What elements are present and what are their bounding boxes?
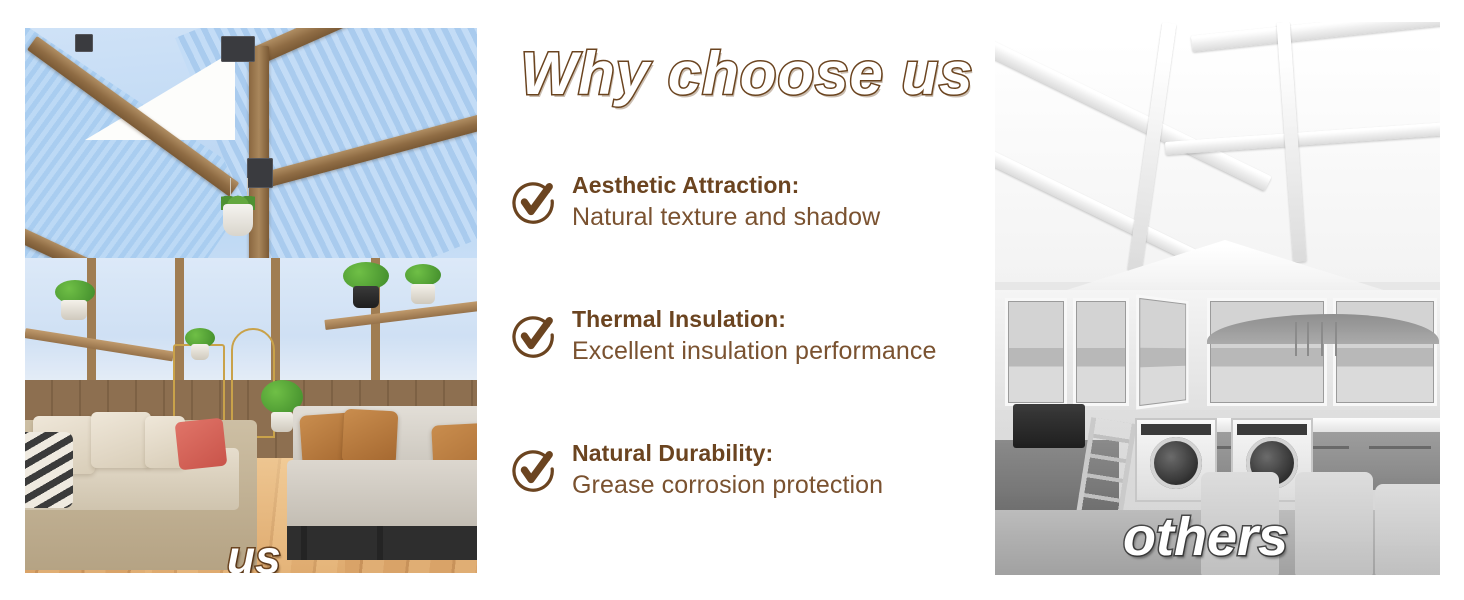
badge-us: us bbox=[227, 534, 281, 573]
sunroom-colour-illustration bbox=[25, 28, 477, 573]
tan-pillow bbox=[342, 409, 399, 466]
window-mullion bbox=[87, 258, 96, 388]
feature-item: Aesthetic Attraction: Natural texture an… bbox=[506, 172, 990, 260]
sofa-leg bbox=[301, 526, 307, 560]
feature-list: Aesthetic Attraction: Natural texture an… bbox=[506, 172, 990, 528]
check-circle-icon bbox=[510, 178, 556, 224]
feature-description: Grease corrosion protection bbox=[572, 470, 990, 500]
sunroom-mono-illustration bbox=[995, 22, 1440, 575]
counter-top bbox=[1191, 418, 1440, 432]
feature-title: Natural Durability: bbox=[572, 440, 990, 466]
cabinet-handle bbox=[1369, 446, 1431, 449]
striped-pillow bbox=[25, 432, 73, 508]
metal-bracket bbox=[75, 34, 93, 52]
metal-bracket bbox=[221, 36, 255, 62]
sofa-cushion bbox=[91, 412, 151, 468]
metal-bracket bbox=[247, 158, 273, 188]
check-circle-icon bbox=[510, 312, 556, 358]
window-pane-open bbox=[1136, 294, 1188, 409]
grey-sofa-seat bbox=[287, 460, 477, 530]
badge-others: others bbox=[1123, 510, 1288, 564]
content-column: Why choose us Aesthetic Attraction: Natu… bbox=[498, 0, 996, 600]
feature-title: Aesthetic Attraction: bbox=[572, 172, 990, 198]
dining-chair bbox=[1375, 484, 1440, 575]
photo-others: others bbox=[995, 22, 1440, 575]
feature-description: Natural texture and shadow bbox=[572, 202, 990, 232]
page-title: Why choose us bbox=[504, 44, 990, 104]
sailboat-mast bbox=[1307, 322, 1309, 356]
hanging-plant-pot bbox=[223, 204, 253, 236]
feature-description: Excellent insulation performance bbox=[572, 336, 990, 366]
dining-chair bbox=[1295, 472, 1373, 575]
sailboat-mast bbox=[1321, 322, 1323, 356]
feature-title: Thermal Insulation: bbox=[572, 306, 990, 332]
why-choose-us-banner: us Why choose us Aesthetic Attraction: N… bbox=[0, 0, 1464, 600]
red-pillow bbox=[175, 418, 228, 471]
check-circle-icon bbox=[510, 446, 556, 492]
television bbox=[1013, 404, 1085, 448]
feature-item: Thermal Insulation: Excellent insulation… bbox=[506, 306, 990, 394]
sailboat-mast bbox=[1335, 322, 1337, 356]
window-pane bbox=[1073, 298, 1129, 406]
sailboat-mast bbox=[1295, 322, 1297, 356]
window-pane bbox=[1005, 298, 1067, 406]
feature-item: Natural Durability: Grease corrosion pro… bbox=[506, 440, 990, 528]
sofa-leg bbox=[377, 526, 383, 560]
photo-us: us bbox=[25, 28, 477, 573]
